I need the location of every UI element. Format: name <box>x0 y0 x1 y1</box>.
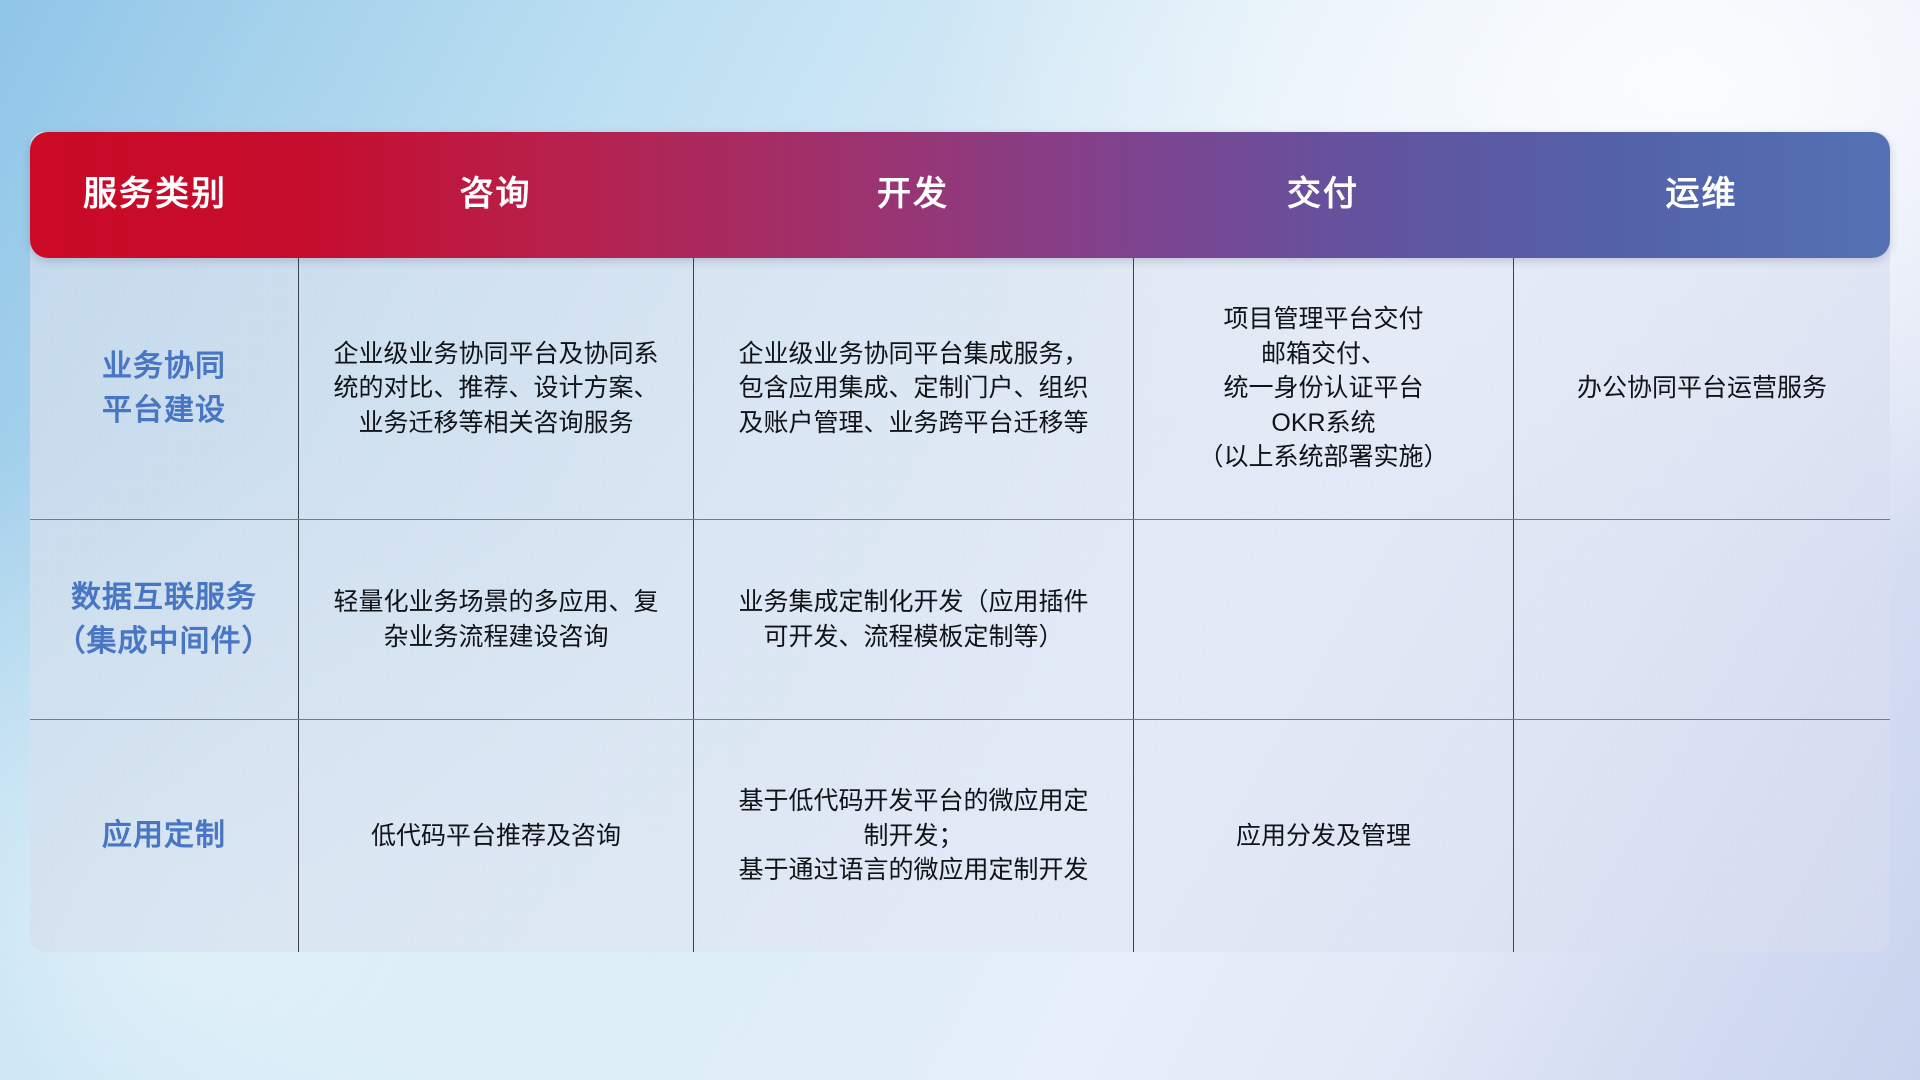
cell-development: 业务集成定制化开发（应用插件 可开发、流程模板定制等） <box>693 520 1133 719</box>
table-row: 应用定制 低代码平台推荐及咨询 基于低代码开发平台的微应用定 制开发； 基于通过… <box>30 720 1890 952</box>
cell-consulting: 企业级业务协同平台及协同系 统的对比、推荐、设计方案、 业务迁移等相关咨询服务 <box>298 258 693 519</box>
cell-category: 应用定制 <box>30 720 298 952</box>
cell-category: 业务协同 平台建设 <box>30 258 298 519</box>
cell-consulting: 轻量化业务场景的多应用、复 杂业务流程建设咨询 <box>298 520 693 719</box>
cell-operations <box>1513 520 1890 719</box>
cell-delivery: 应用分发及管理 <box>1133 720 1513 952</box>
column-header-development: 开发 <box>693 176 1133 213</box>
cell-category: 数据互联服务 （集成中间件） <box>30 520 298 719</box>
cell-operations <box>1513 720 1890 952</box>
cell-delivery: 项目管理平台交付 邮箱交付、 统一身份认证平台 OKR系统 （以上系统部署实施） <box>1133 258 1513 519</box>
cell-development: 企业级业务协同平台集成服务， 包含应用集成、定制门户、组织 及账户管理、业务跨平… <box>693 258 1133 519</box>
cell-delivery <box>1133 520 1513 719</box>
table-row: 数据互联服务 （集成中间件） 轻量化业务场景的多应用、复 杂业务流程建设咨询 业… <box>30 520 1890 720</box>
slide-canvas: 服务类别 咨询 开发 交付 运维 业务协同 平台建设 企业级业务协同平台及协同系… <box>0 0 1920 1080</box>
cell-consulting: 低代码平台推荐及咨询 <box>298 720 693 952</box>
service-category-table: 服务类别 咨询 开发 交付 运维 业务协同 平台建设 企业级业务协同平台及协同系… <box>30 132 1890 952</box>
column-header-operations: 运维 <box>1513 176 1890 213</box>
column-header-consulting: 咨询 <box>298 176 693 213</box>
table-body-rows: 业务协同 平台建设 企业级业务协同平台及协同系 统的对比、推荐、设计方案、 业务… <box>30 258 1890 952</box>
column-header-service-category: 服务类别 <box>30 176 298 213</box>
column-header-delivery: 交付 <box>1133 176 1513 213</box>
cell-operations: 办公协同平台运营服务 <box>1513 258 1890 519</box>
table-header-row: 服务类别 咨询 开发 交付 运维 <box>30 132 1890 258</box>
cell-development: 基于低代码开发平台的微应用定 制开发； 基于通过语言的微应用定制开发 <box>693 720 1133 952</box>
table-row: 业务协同 平台建设 企业级业务协同平台及协同系 统的对比、推荐、设计方案、 业务… <box>30 258 1890 520</box>
